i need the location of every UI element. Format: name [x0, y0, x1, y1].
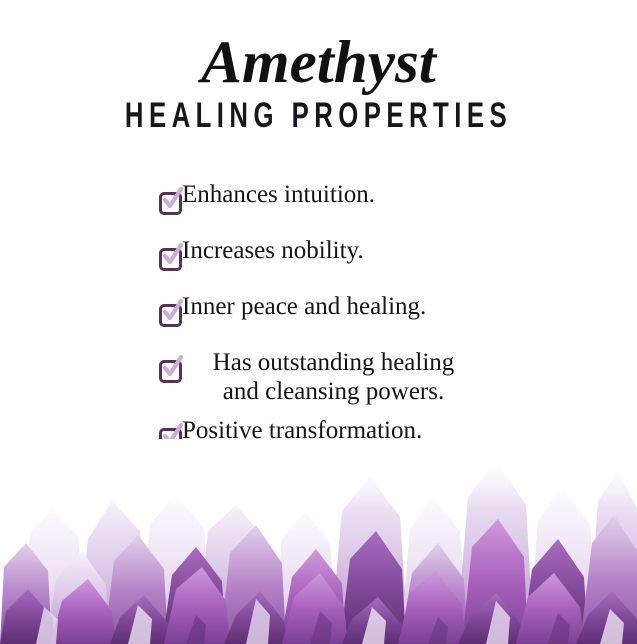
list-item: Inner peace and healing. — [0, 292, 637, 336]
poster-header: Amethyst HEALING PROPERTIES — [0, 30, 637, 134]
list-item-label-line2: and cleansing powers. — [150, 377, 517, 406]
page-subtitle: HEALING PROPERTIES — [70, 94, 567, 135]
checkmark-glyph — [161, 187, 183, 211]
list-item: Increases nobility. — [0, 236, 637, 280]
checkbox-checked-icon — [158, 358, 182, 382]
healing-properties-list: Enhances intuition. Increases nobility. — [0, 180, 637, 472]
list-item-label: Enhances intuition. — [0, 180, 637, 210]
list-item: Enhances intuition. — [0, 180, 637, 224]
checkbox-checked-icon — [158, 246, 182, 270]
checkbox-checked-icon — [158, 190, 182, 214]
list-item-label: Increases nobility. — [0, 236, 637, 266]
amethyst-healing-properties-poster: Amethyst HEALING PROPERTIES Enhances int… — [0, 0, 637, 644]
amethyst-crystal-cluster-image — [0, 439, 637, 644]
checkmark-glyph — [161, 299, 183, 323]
list-item: Has outstanding healing and cleansing po… — [0, 348, 637, 406]
list-item-label: Inner peace and healing. — [0, 292, 637, 322]
list-item-label-line1: Has outstanding healing — [150, 348, 517, 377]
list-item-label: Has outstanding healing and cleansing po… — [0, 348, 637, 406]
checkmark-glyph — [161, 243, 183, 267]
checkmark-glyph — [161, 355, 183, 379]
checkbox-checked-icon — [158, 302, 182, 326]
page-title: Amethyst — [0, 30, 637, 94]
